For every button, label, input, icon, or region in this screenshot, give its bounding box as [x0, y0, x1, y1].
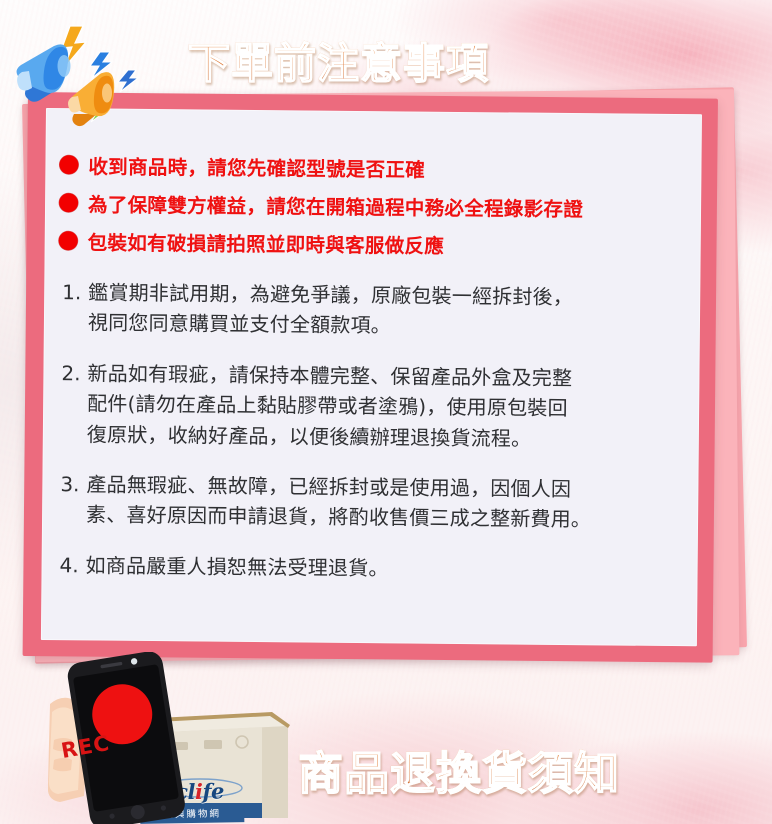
list-item-body: 新品如有瑕疵，請保持本體完整、保留產品外盒及完整 配件(請勿在產品上黏貼膠帶或者… [87, 358, 678, 455]
list-item-index: 2. [61, 358, 88, 449]
list-item: 2. 新品如有瑕疵，請保持本體完整、保留產品外盒及完整 配件(請勿在產品上黏貼膠… [61, 358, 700, 455]
red-dot-icon [59, 193, 78, 212]
list-item-index: 1. [62, 277, 89, 338]
list-item-line: 復原狀，收納好產品，以便後續辦理退換貨流程。 [87, 419, 677, 455]
red-dot-icon [59, 231, 78, 250]
footer-title: 商品退換貨須知 [298, 737, 620, 802]
bullet-text: 包裝如有破損請拍照並即時與客服做反應 [88, 226, 445, 258]
bullet-text: 收到商品時，請您先確認型號是否正確 [88, 150, 425, 182]
bullet-item: 包裝如有破損請拍照並即時與客服做反應 [59, 226, 701, 261]
page-title: 下單前注意事項 [188, 30, 489, 91]
list-item-index: 4. [59, 550, 85, 581]
list-item: 4. 如商品嚴重人損恕無法受理退貨。 [59, 550, 697, 587]
list-item-body: 鑑賞期非試用期，為避免爭議，原廠包裝一經拆封後， 視同您同意購買並支付全額款項。 [88, 277, 679, 343]
list-item-line: 如商品嚴重人損恕無法受理退貨。 [85, 550, 675, 586]
list-item-line: 配件(請勿在產品上黏貼膠帶或者塗鴉)，使用原包裝回 [87, 389, 677, 425]
list-item-line: 視同您同意購買並支付全額款項。 [88, 308, 678, 344]
red-dot-icon [59, 155, 78, 174]
list-item-body: 如商品嚴重人損恕無法受理退貨。 [85, 550, 675, 586]
list-item: 3. 產品無瑕疵、無故障，已經拆封或是使用過，因個人因 素、喜好原因而申請退貨，… [60, 469, 699, 536]
list-item-index: 3. [60, 469, 87, 530]
list-item: 1. 鑑賞期非試用期，為避免爭議，原廠包裝一經拆封後， 視同您同意購買並支付全額… [62, 277, 701, 344]
notice-card-content: 收到商品時，請您先確認型號是否正確 為了保障雙方權益，請您在開箱過程中務必全程錄… [41, 108, 702, 646]
numbered-list: 1. 鑑賞期非試用期，為避免爭議，原廠包裝一經拆封後， 視同您同意購買並支付全額… [41, 277, 700, 586]
list-item-line: 素、喜好原因而申請退貨，將酌收售價三成之整新費用。 [86, 500, 676, 536]
bullet-text: 為了保障雙方權益，請您在開箱過程中務必全程錄影存證 [88, 188, 583, 222]
bullet-item: 為了保障雙方權益，請您在開箱過程中務必全程錄影存證 [59, 188, 701, 223]
megaphone-icon [4, 22, 174, 132]
list-item-body: 產品無瑕疵、無故障，已經拆封或是使用過，因個人因 素、喜好原因而申請退貨，將酌收… [86, 469, 677, 535]
poster-canvas: 收到商品時，請您先確認型號是否正確 為了保障雙方權益，請您在開箱過程中務必全程錄… [0, 0, 772, 824]
bullet-item: 收到商品時，請您先確認型號是否正確 [59, 150, 701, 185]
